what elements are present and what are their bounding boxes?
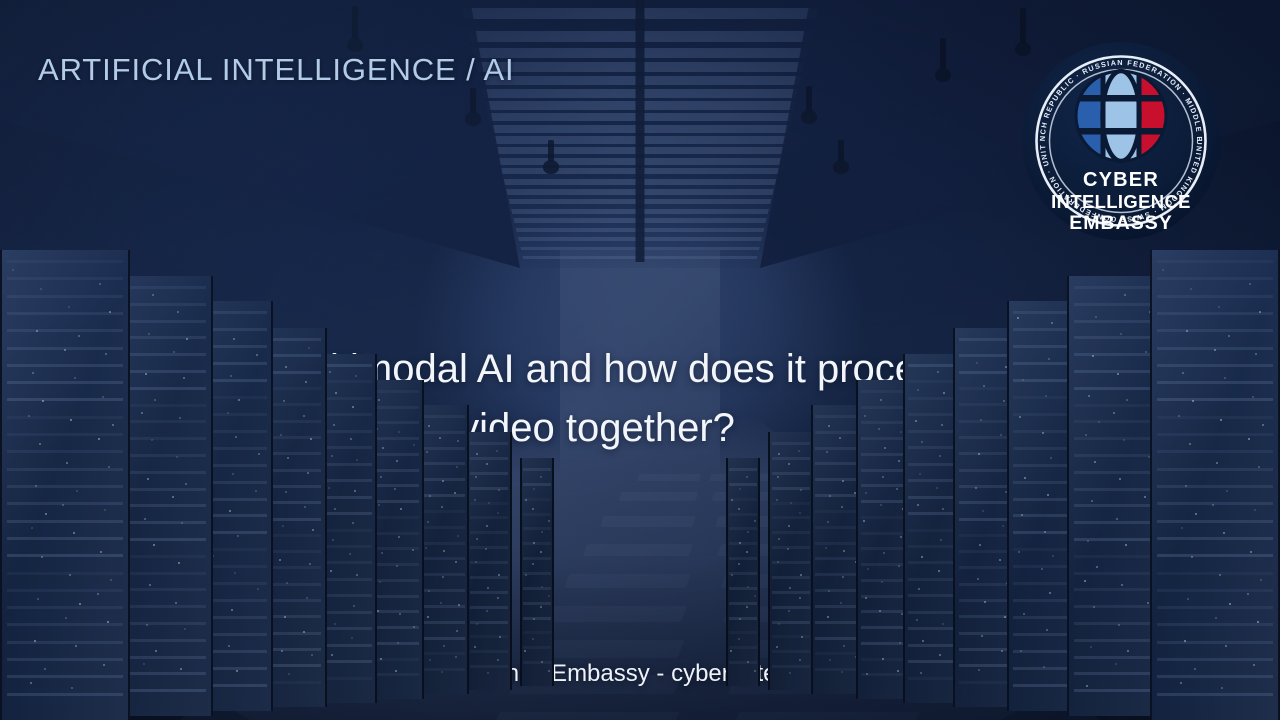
rack-glass-door [1152, 250, 1278, 720]
emblem-wordmark-line3: EMBASSY [1069, 212, 1172, 234]
slide-category-label: ARTIFICIAL INTELLIGENCE / AI [38, 52, 515, 88]
emblem-wordmark-line1: CYBER [1083, 169, 1159, 191]
server-rack [466, 432, 512, 690]
rack-glass-door [522, 458, 552, 686]
rack-glass-door [728, 458, 758, 686]
server-rack [1150, 250, 1280, 720]
cyber-intelligence-embassy-logo: EUROPEAN UNION · FRENCH REPUBLIC · RUSSI… [1018, 38, 1224, 244]
rack-glass-door [770, 432, 812, 690]
server-rack [520, 458, 554, 686]
server-rack [0, 250, 130, 720]
rack-glass-door [468, 432, 510, 690]
rack-glass-door [2, 250, 128, 720]
presentation-slide: ARTIFICIAL INTELLIGENCE / AI What is mul… [0, 0, 1280, 720]
server-rack [768, 432, 814, 690]
emblem-wordmark-line2: INTELLIGENCE [1051, 191, 1191, 212]
server-rack [726, 458, 760, 686]
